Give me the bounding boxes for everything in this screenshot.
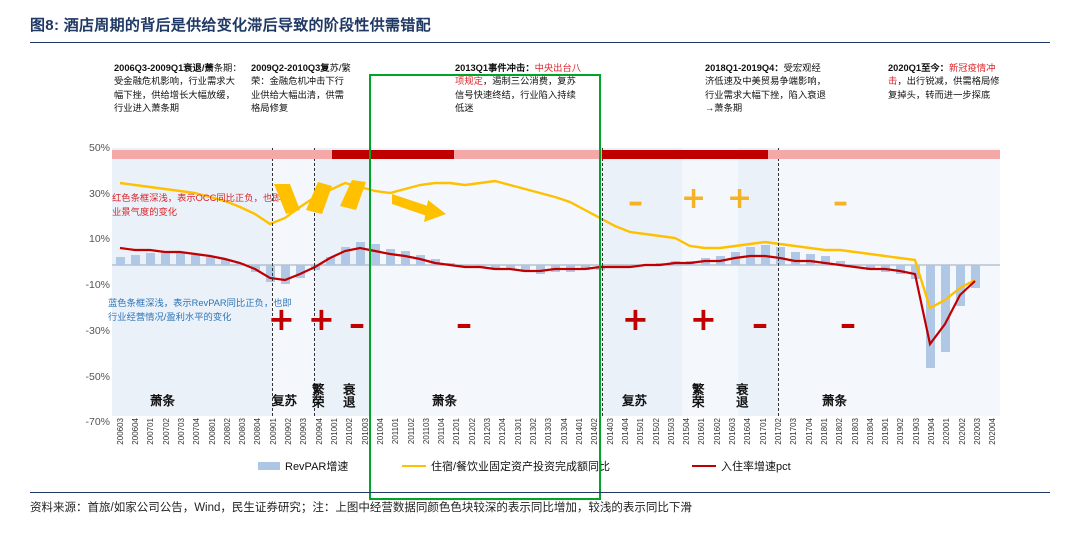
x-tick-200903: 200903	[299, 418, 308, 445]
y-tick-neg10: -10%	[85, 279, 110, 291]
x-tick-201502: 201502	[652, 418, 661, 445]
x-tick-201201: 201201	[452, 418, 461, 445]
occ-band-dark-1	[332, 150, 454, 159]
trend-arrow-group-1	[270, 180, 400, 230]
phase-label-2: 繁荣	[310, 383, 323, 408]
x-tick-201202: 201202	[468, 418, 477, 445]
x-tick-201701: 201701	[759, 418, 768, 445]
x-tick-201102: 201102	[407, 418, 416, 444]
x-axis-labels: 2006032006042007012007022007032007042008…	[112, 418, 1000, 462]
x-tick-200801: 200801	[208, 418, 217, 445]
x-tick-201604: 201604	[743, 418, 752, 445]
divider-2019q1	[778, 148, 779, 416]
y-tick-neg30: -30%	[85, 325, 110, 337]
legend-item-revpar: RevPAR增速	[258, 458, 348, 474]
x-tick-201402: 201402	[590, 418, 599, 445]
phase-label-3: 衰退	[341, 383, 354, 408]
phase-label-6: 繁荣	[690, 383, 703, 408]
legend-label-revpar: RevPAR增速	[285, 458, 348, 474]
annotation-2006: 2006Q3-2009Q1衰退/萧条期：受金融危机影响，行业需求大幅下挫，供给增…	[114, 62, 244, 116]
sign-minus-occ-1: –	[349, 308, 365, 340]
title-divider	[30, 42, 1050, 43]
occ-band-dark-2	[602, 150, 768, 159]
x-tick-201904: 201904	[927, 418, 936, 445]
phase-label-7: 衰退	[734, 383, 747, 408]
x-tick-202004: 202004	[988, 418, 997, 445]
x-tick-201401: 201401	[575, 418, 584, 445]
chart-legend: RevPAR增速 住宿/餐饮业固定资产投资完成额同比 入住率增速pct	[112, 458, 1000, 478]
x-tick-200703: 200703	[177, 418, 186, 445]
x-tick-201002: 201002	[345, 418, 354, 445]
x-tick-201004: 201004	[376, 418, 385, 445]
divider-2015q1	[602, 148, 603, 416]
x-tick-200702: 200702	[162, 418, 171, 445]
annotation-2013-head: 2013Q1事件冲击：	[455, 63, 535, 73]
phase-label-8: 萧条	[822, 390, 847, 409]
x-tick-202003: 202003	[973, 418, 982, 445]
x-tick-201902: 201902	[896, 418, 905, 445]
annotation-2013: 2013Q1事件冲击：中央出台八项规定，遏制三公消费，复苏信号快速终结，行业陷入…	[455, 62, 583, 116]
sign-plus-occ-2: +	[308, 303, 335, 335]
sign-plus-occ-1: +	[268, 303, 295, 335]
page-title: 图8: 酒店周期的背后是供给变化滞后导致的阶段性供需错配	[30, 14, 1050, 35]
x-tick-201903: 201903	[912, 418, 921, 445]
x-tick-201702: 201702	[774, 418, 783, 445]
x-tick-201704: 201704	[805, 418, 814, 445]
x-tick-201603: 201603	[728, 418, 737, 445]
chart-canvas	[112, 148, 1000, 416]
sign-minus-invest-2: –	[833, 188, 848, 218]
x-tick-201301: 201301	[514, 418, 523, 445]
legend-swatch-revpar	[258, 462, 280, 470]
x-tick-201803: 201803	[851, 418, 860, 445]
sign-plus-invest-1: +	[681, 184, 706, 214]
x-tick-201403: 201403	[606, 418, 615, 445]
x-tick-200803: 200803	[238, 418, 247, 445]
x-tick-201303: 201303	[544, 418, 553, 445]
sign-minus-occ-2: –	[456, 308, 472, 340]
phase-label-5: 复苏	[622, 390, 647, 409]
x-tick-201104: 201104	[437, 418, 446, 444]
x-tick-201203: 201203	[483, 418, 492, 445]
footer-divider	[30, 492, 1050, 493]
annotation-2009-head: 2009Q2-2010Q3复	[251, 63, 330, 73]
y-tick-10: 10%	[89, 233, 110, 245]
x-tick-201103: 201103	[422, 418, 431, 444]
x-tick-200802: 200802	[223, 418, 232, 445]
annotation-2009: 2009Q2-2010Q3复苏/繁荣：金融危机冲击下行业供给大幅出清，供需格局修…	[251, 62, 351, 116]
y-axis-labels: 50% 30% 10% -10% -30% -50% -70%	[74, 140, 110, 425]
x-tick-200604: 200604	[131, 418, 140, 445]
x-tick-201001: 201001	[330, 418, 339, 445]
x-tick-201503: 201503	[667, 418, 676, 445]
legend-swatch-occupancy	[692, 465, 716, 468]
x-tick-201204: 201204	[498, 418, 507, 445]
source-note: 资料来源：首旅/如家公司公告，Wind，民生证券研究；注：上图中经营数据同颜色色…	[30, 499, 1050, 515]
legend-swatch-investment	[402, 465, 426, 468]
sign-minus-invest-1: –	[628, 188, 643, 218]
trend-arrow-down	[390, 190, 460, 230]
x-tick-201302: 201302	[529, 418, 538, 445]
phase-label-1: 复苏	[272, 390, 297, 409]
x-tick-200701: 200701	[146, 418, 155, 445]
y-tick-neg50: -50%	[85, 371, 110, 383]
legend-label-investment: 住宿/餐饮业固定资产投资完成额同比	[431, 458, 610, 474]
x-tick-201602: 201602	[713, 418, 722, 445]
y-tick-30: 30%	[89, 188, 110, 200]
x-tick-200804: 200804	[253, 418, 262, 445]
annotation-2006-head: 2006Q3-2009Q1衰退/萧	[114, 63, 214, 73]
x-tick-202002: 202002	[958, 418, 967, 445]
plot-area	[112, 148, 1000, 416]
x-tick-202001: 202001	[942, 418, 951, 445]
title-block: 图8: 酒店周期的背后是供给变化滞后导致的阶段性供需错配	[30, 14, 1050, 43]
x-tick-200904: 200904	[315, 418, 324, 445]
x-tick-201802: 201802	[835, 418, 844, 445]
sign-plus-occ-3: +	[622, 303, 649, 335]
phase-label-4: 萧条	[432, 390, 457, 409]
x-tick-200902: 200902	[284, 418, 293, 445]
x-tick-201901: 201901	[881, 418, 890, 445]
annotation-2018-head: 2018Q1-2019Q4：	[705, 63, 784, 73]
x-tick-201801: 201801	[820, 418, 829, 445]
annotation-2020-body: ，出行锐减，供需格局修复掉头，转而进一步探底	[888, 76, 1000, 99]
sign-plus-occ-4: +	[690, 303, 717, 335]
x-tick-200704: 200704	[192, 418, 201, 445]
x-tick-200901: 200901	[269, 418, 278, 445]
occ-band-light-4	[768, 150, 1000, 159]
x-tick-201101: 201101	[391, 418, 400, 444]
phase-label-0: 萧条	[150, 390, 175, 409]
legend-item-investment: 住宿/餐饮业固定资产投资完成额同比	[402, 458, 610, 474]
annotation-2020: 2020Q1至今：新冠疫情冲击，出行锐减，供需格局修复掉头，转而进一步探底	[888, 62, 1000, 102]
occ-band-light-2	[272, 150, 332, 159]
occ-band-light-3	[454, 150, 602, 159]
occ-note: 红色条框深浅，表示OCC同比正负，也即行业景气度的变化	[112, 192, 292, 220]
y-tick-neg70: -70%	[85, 416, 110, 428]
chart-page: 图8: 酒店周期的背后是供给变化滞后导致的阶段性供需错配 2006Q3-2009…	[0, 0, 1080, 540]
legend-label-occupancy: 入住率增速pct	[721, 458, 791, 474]
x-tick-201703: 201703	[789, 418, 798, 445]
x-tick-201304: 201304	[560, 418, 569, 445]
sign-plus-invest-2: +	[727, 184, 752, 214]
occ-band-light-1	[112, 150, 272, 159]
x-tick-201003: 201003	[361, 418, 370, 445]
legend-item-occupancy: 入住率增速pct	[692, 458, 791, 474]
annotation-2018: 2018Q1-2019Q4：受宏观经济低速及中美贸易争端影响，行业需求大幅下挫，…	[705, 62, 827, 116]
sign-minus-occ-3: –	[752, 308, 768, 340]
annotation-2020-head: 2020Q1至今：	[888, 63, 949, 73]
x-tick-201504: 201504	[682, 418, 691, 445]
x-tick-201804: 201804	[866, 418, 875, 445]
x-tick-201404: 201404	[621, 418, 630, 445]
x-tick-200603: 200603	[116, 418, 125, 445]
y-tick-50: 50%	[89, 142, 110, 154]
x-tick-201501: 201501	[636, 418, 645, 445]
x-tick-201601: 201601	[697, 418, 706, 445]
sign-minus-occ-4: –	[840, 308, 856, 340]
